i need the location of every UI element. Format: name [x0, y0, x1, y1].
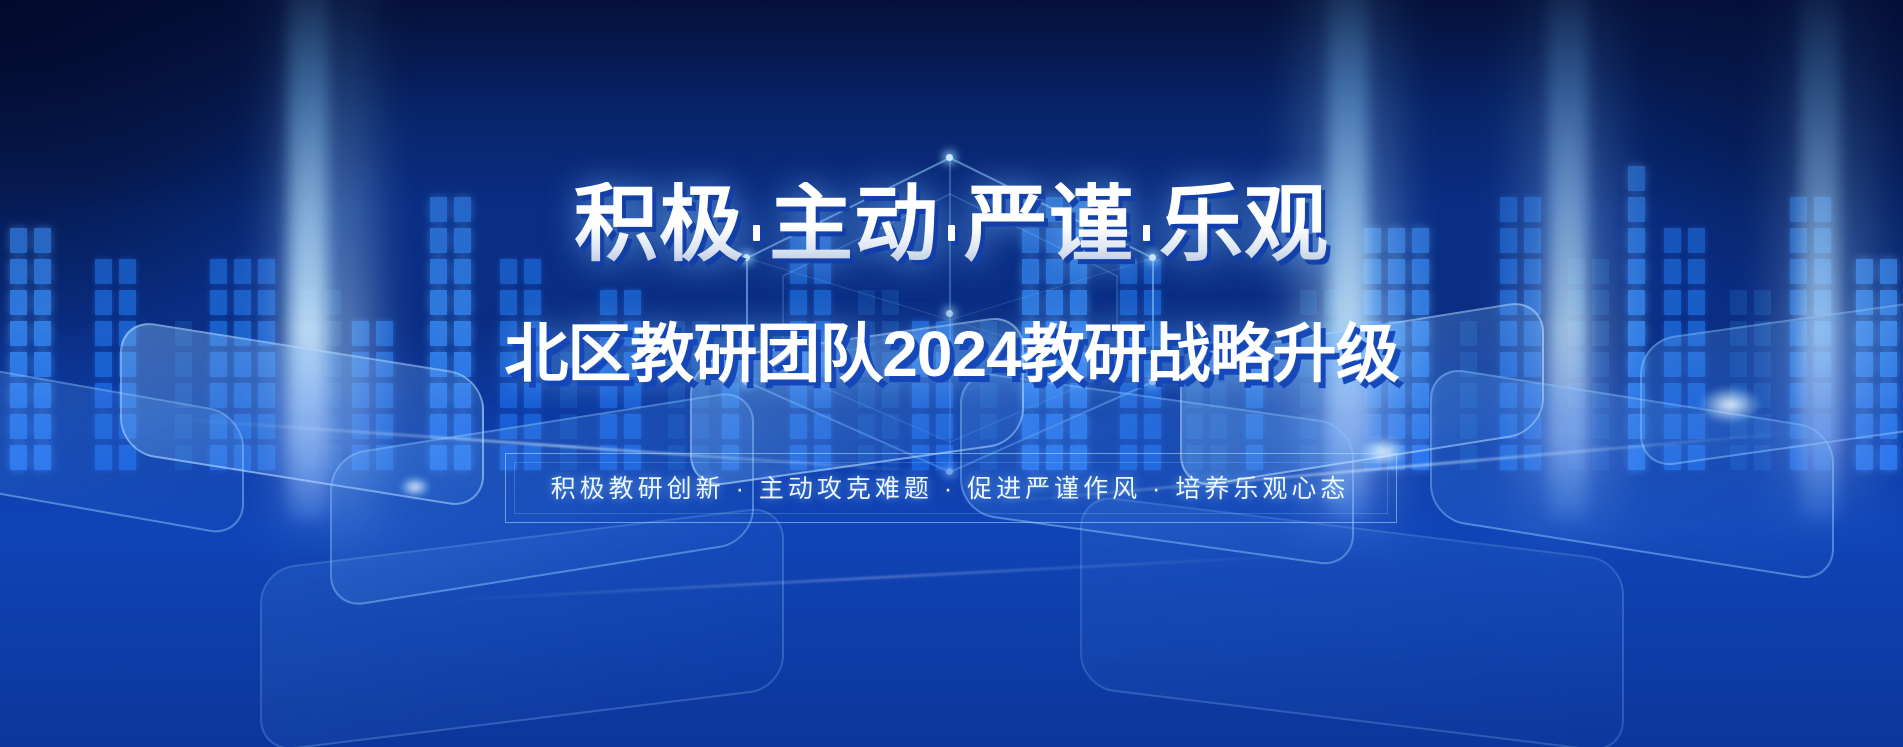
title-separator	[753, 225, 760, 241]
title-word: 积极	[574, 177, 744, 271]
banner-root: 积极主动严谨乐观 北区教研团队2024教研战略升级 积极教研创新 · 主动攻克难…	[0, 0, 1903, 747]
title-word: 主动	[769, 177, 939, 271]
main-title: 积极主动严谨乐观	[0, 182, 1903, 266]
tagline: 积极教研创新 · 主动攻克难题 · 促进严谨作风 · 培养乐观心态	[505, 453, 1395, 521]
title-word: 严谨	[964, 177, 1134, 271]
title-separator	[1143, 225, 1150, 241]
subtitle: 北区教研团队2024教研战略升级	[0, 322, 1903, 386]
title-separator	[948, 225, 955, 241]
title-word: 乐观	[1159, 177, 1329, 271]
headline-group: 积极主动严谨乐观 北区教研团队2024教研战略升级 积极教研创新 · 主动攻克难…	[0, 0, 1903, 747]
